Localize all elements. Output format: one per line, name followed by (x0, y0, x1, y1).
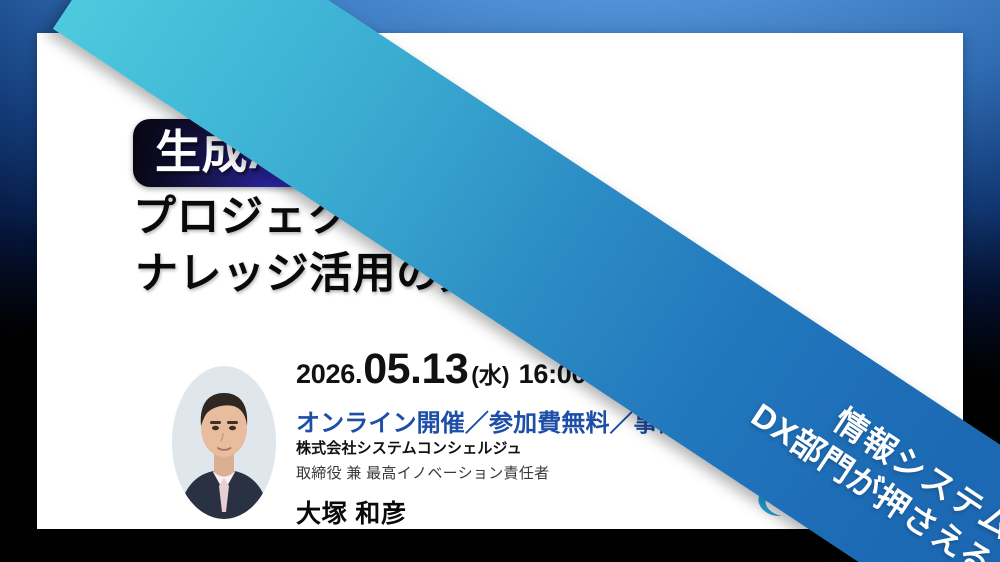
event-dayofweek: (水) (471, 356, 509, 390)
logo-subtext: 株式会社システムコンシェルジュ (802, 521, 963, 529)
event-details: 2026. 05.13 (水) 16:00-17:00 オンライン開催／参加費無… (296, 345, 803, 438)
speaker-company: 株式会社システムコンシェルジュ (296, 437, 549, 458)
generative-ai-badge-label: 生成AI (155, 129, 295, 175)
speaker-name: 大塚 和彦 (296, 494, 549, 529)
generative-ai-badge: 生成AI (133, 119, 317, 187)
headline-block: 生成AI による プロジェクト管理 ナレッジ活用の実践ポイント (133, 117, 893, 303)
headline-title-line-1: プロジェクト管理 (133, 189, 893, 246)
system-concierge-swoosh-icon (755, 482, 793, 522)
company-logo: System Concierge 株式会社システムコンシェルジュ (755, 482, 963, 529)
speaker-role: 取締役 兼 最高イノベーション責任者 (296, 462, 549, 483)
speaker-info: 株式会社システムコンシェルジュ 取締役 兼 最高イノベーション責任者 大塚 和彦 (296, 437, 549, 529)
event-year: 2026. (296, 359, 362, 390)
headline-title-line-2: ナレッジ活用の実践ポイント (135, 246, 893, 303)
event-time: 16:00-17:00 (519, 359, 663, 390)
event-date-row: 2026. 05.13 (水) 16:00-17:00 (296, 345, 803, 394)
logo-wordmark: System Concierge (802, 484, 963, 519)
event-monthday: 05.13 (363, 345, 468, 394)
headline-connector: による (329, 136, 432, 170)
logo-text-block: System Concierge 株式会社システムコンシェルジュ (802, 482, 963, 529)
content-card: 生成AI による プロジェクト管理 ナレッジ活用の実践ポイント (37, 33, 963, 529)
headline-first-row: 生成AI による (133, 117, 893, 189)
event-notice: オンライン開催／参加費無料／事前申し込み制 (296, 403, 803, 438)
seminar-banner: 生成AI による プロジェクト管理 ナレッジ活用の実践ポイント (0, 0, 1000, 562)
speaker-avatar (172, 366, 276, 519)
